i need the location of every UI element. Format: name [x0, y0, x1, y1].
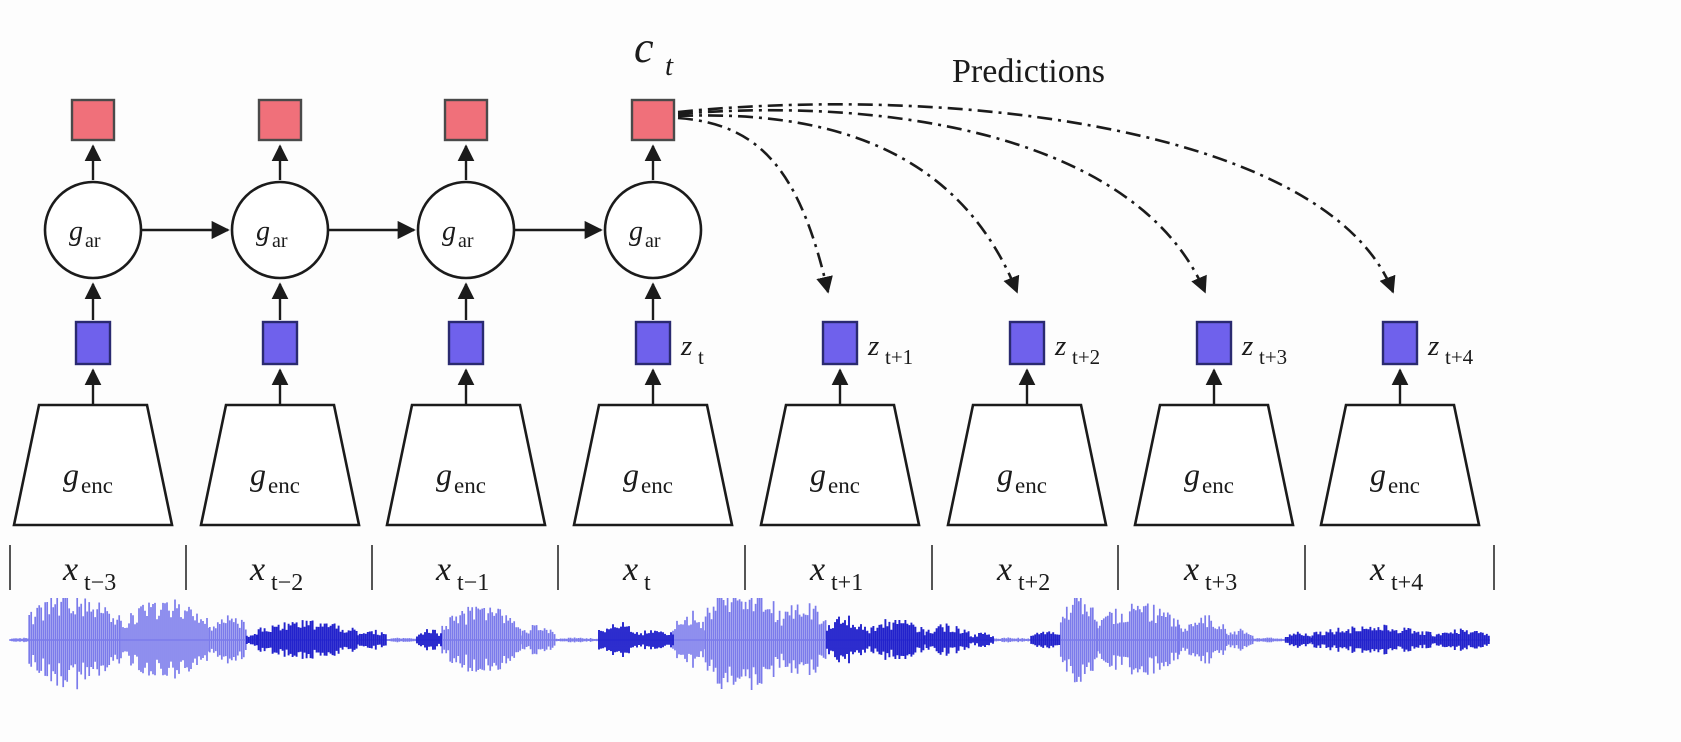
input-label-t+1: x — [809, 551, 825, 588]
encoder-trapezoid-t[interactable] — [574, 405, 732, 525]
gar-label-sub-t: ar — [645, 230, 661, 252]
gar-label-main-t-2: g — [256, 216, 270, 247]
prediction-arrow-t4 — [678, 104, 1393, 292]
context-vector-title: c t — [634, 23, 674, 82]
latent-label-sub-t: t — [698, 345, 704, 369]
audio-waveform — [10, 598, 1490, 690]
latent-label-t+1: z — [867, 330, 879, 362]
encoder-label-main-t-2: g — [250, 456, 266, 492]
prediction-arrows-group — [678, 104, 1393, 292]
latent-label-t+4: z — [1427, 330, 1439, 362]
context-vector-subscript: t — [665, 50, 674, 82]
column-t+2: genczt+2xt+2 — [948, 322, 1106, 596]
encoder-label-main-t: g — [623, 456, 639, 492]
encoder-trapezoid-t+2[interactable] — [948, 405, 1106, 525]
cpc-architecture-diagram: c t Predictions gencgarxt−3gencgarxt−2ge… — [0, 0, 1681, 742]
latent-label-sub-t+2: t+2 — [1072, 345, 1100, 369]
input-label-t+4: x — [1369, 551, 1385, 588]
latent-label-t+3: z — [1241, 330, 1253, 362]
input-label-t-3: x — [62, 551, 78, 588]
input-label-sub-t: t — [644, 570, 651, 596]
encoder-trapezoid-t+3[interactable] — [1135, 405, 1293, 525]
context-box-t-2[interactable] — [259, 100, 301, 140]
encoder-trapezoid-t-1[interactable] — [387, 405, 545, 525]
encoder-trapezoid-t+4[interactable] — [1321, 405, 1479, 525]
input-label-sub-t+1: t+1 — [831, 570, 863, 596]
latent-label-sub-t+1: t+1 — [885, 345, 913, 369]
input-label-t-2: x — [249, 551, 265, 588]
latent-box-t-1[interactable] — [449, 322, 483, 364]
column-t-1: gencgarxt−1 — [387, 100, 545, 596]
columns-layer: gencgarxt−3gencgarxt−2gencgarxt−1gencztg… — [14, 100, 1479, 596]
input-label-t: x — [622, 551, 638, 588]
latent-box-t+2[interactable] — [1010, 322, 1044, 364]
encoder-label-sub-t+3: enc — [1202, 473, 1234, 498]
encoder-label-sub-t+4: enc — [1388, 473, 1420, 498]
latent-box-t-2[interactable] — [263, 322, 297, 364]
encoder-label-sub-t-2: enc — [268, 473, 300, 498]
encoder-label-sub-t+1: enc — [828, 473, 860, 498]
input-label-sub-t+4: t+4 — [1391, 570, 1423, 596]
latent-label-t+2: z — [1054, 330, 1066, 362]
column-t+1: genczt+1xt+1 — [761, 322, 919, 596]
column-t+3: genczt+3xt+3 — [1135, 322, 1293, 596]
encoder-label-main-t+2: g — [997, 456, 1013, 492]
encoder-label-main-t+3: g — [1184, 456, 1200, 492]
figure-canvas: c t Predictions gencgarxt−3gencgarxt−2ge… — [0, 0, 1681, 742]
gar-label-main-t-3: g — [69, 216, 83, 247]
prediction-arrow-t3 — [678, 110, 1205, 292]
gar-label-main-t-1: g — [442, 216, 456, 247]
gar-label-sub-t-1: ar — [458, 230, 474, 252]
latent-label-sub-t+3: t+3 — [1259, 345, 1287, 369]
column-t+4: genczt+4xt+4 — [1321, 322, 1479, 596]
context-box-t-3[interactable] — [72, 100, 114, 140]
input-label-sub-t+2: t+2 — [1018, 570, 1050, 596]
gar-label-sub-t-2: ar — [272, 230, 288, 252]
latent-label-sub-t+4: t+4 — [1445, 345, 1474, 369]
encoder-label-sub-t-3: enc — [81, 473, 113, 498]
encoder-trapezoid-t-3[interactable] — [14, 405, 172, 525]
input-label-sub-t-3: t−3 — [84, 570, 116, 596]
latent-box-t+4[interactable] — [1383, 322, 1417, 364]
column-t-2: gencgarxt−2 — [201, 100, 359, 596]
encoder-label-sub-t+2: enc — [1015, 473, 1047, 498]
encoder-label-sub-t-1: enc — [454, 473, 486, 498]
input-label-sub-t-1: t−1 — [457, 570, 489, 596]
encoder-label-main-t+4: g — [1370, 456, 1386, 492]
latent-box-t[interactable] — [636, 322, 670, 364]
encoder-label-sub-t: enc — [641, 473, 673, 498]
encoder-trapezoid-t+1[interactable] — [761, 405, 919, 525]
gar-label-main-t: g — [629, 216, 643, 247]
latent-box-t+3[interactable] — [1197, 322, 1231, 364]
latent-label-t: z — [680, 330, 692, 362]
input-label-t+3: x — [1183, 551, 1199, 588]
input-label-sub-t+3: t+3 — [1205, 570, 1237, 596]
context-vector-symbol: c — [634, 23, 654, 72]
latent-box-t+1[interactable] — [823, 322, 857, 364]
column-t: gencztgarxt — [574, 100, 732, 596]
prediction-arrow-t1 — [678, 118, 828, 292]
encoder-trapezoid-t-2[interactable] — [201, 405, 359, 525]
input-label-t+2: x — [996, 551, 1012, 588]
encoder-label-main-t+1: g — [810, 456, 826, 492]
predictions-label: Predictions — [952, 53, 1105, 90]
latent-box-t-3[interactable] — [76, 322, 110, 364]
gar-label-sub-t-3: ar — [85, 230, 101, 252]
encoder-label-main-t-3: g — [63, 456, 79, 492]
prediction-arrow-t2 — [678, 115, 1017, 292]
input-label-sub-t-2: t−2 — [271, 570, 303, 596]
context-box-t[interactable] — [632, 100, 674, 140]
input-label-t-1: x — [435, 551, 451, 588]
context-box-t-1[interactable] — [445, 100, 487, 140]
encoder-label-main-t-1: g — [436, 456, 452, 492]
timeline-ticks-layer — [10, 545, 1494, 590]
waveform-dark-strokes — [247, 616, 1489, 664]
column-t-3: gencgarxt−3 — [14, 100, 172, 596]
